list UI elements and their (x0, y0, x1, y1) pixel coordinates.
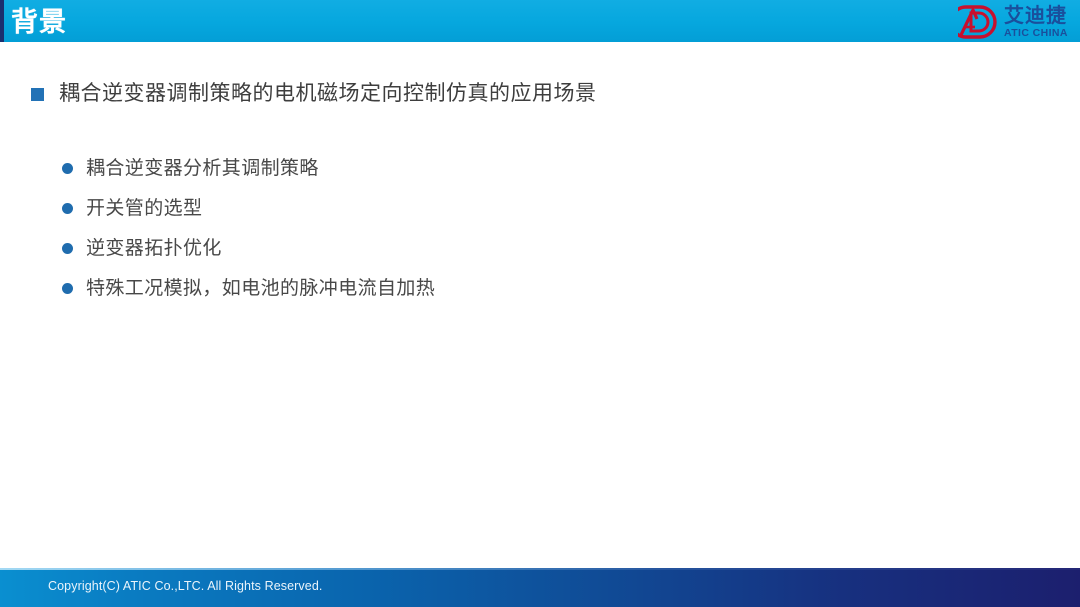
slide-root: 背景 艾迪捷 ATIC CHINA 耦合逆 (0, 0, 1080, 607)
level1-bullet-item: 耦合逆变器调制策略的电机磁场定向控制仿真的应用场景 (31, 78, 597, 110)
atic-ad-monogram-icon (958, 3, 1000, 41)
logo-wordmark: 艾迪捷 ATIC CHINA (1004, 5, 1068, 39)
square-bullet-icon (31, 88, 44, 101)
company-logo: 艾迪捷 ATIC CHINA (958, 1, 1080, 42)
dot-bullet-icon (62, 163, 73, 174)
copyright-notice: Copyright(C) ATIC Co.,LTC. All Rights Re… (48, 579, 322, 593)
slide-footer-bar: Copyright(C) ATIC Co.,LTC. All Rights Re… (0, 568, 1080, 607)
level2-bullet-list: 耦合逆变器分析其调制策略 开关管的选型 逆变器拓扑优化 特殊工况模拟，如电池的脉… (62, 154, 435, 304)
level1-bullet-label: 耦合逆变器调制策略的电机磁场定向控制仿真的应用场景 (59, 78, 597, 110)
logo-name-en: ATIC CHINA (1004, 28, 1068, 39)
list-item: 特殊工况模拟，如电池的脉冲电流自加热 (62, 274, 435, 304)
dot-bullet-icon (62, 203, 73, 214)
logo-name-cn: 艾迪捷 (1004, 6, 1068, 26)
level2-bullet-label: 特殊工况模拟，如电池的脉冲电流自加热 (86, 274, 435, 304)
list-item: 逆变器拓扑优化 (62, 234, 435, 264)
list-item: 耦合逆变器分析其调制策略 (62, 154, 435, 184)
slide-title: 背景 (11, 3, 67, 41)
list-item: 开关管的选型 (62, 194, 435, 224)
header-left-accent-stripe (0, 0, 4, 42)
slide-header-bar: 背景 艾迪捷 ATIC CHINA (0, 0, 1080, 42)
level2-bullet-label: 耦合逆变器分析其调制策略 (86, 154, 319, 184)
level2-bullet-label: 开关管的选型 (86, 194, 202, 224)
slide-body: 耦合逆变器调制策略的电机磁场定向控制仿真的应用场景 耦合逆变器分析其调制策略 开… (0, 42, 1080, 568)
dot-bullet-icon (62, 243, 73, 254)
dot-bullet-icon (62, 283, 73, 294)
level2-bullet-label: 逆变器拓扑优化 (86, 234, 222, 264)
footer-top-highlight (0, 568, 1080, 570)
